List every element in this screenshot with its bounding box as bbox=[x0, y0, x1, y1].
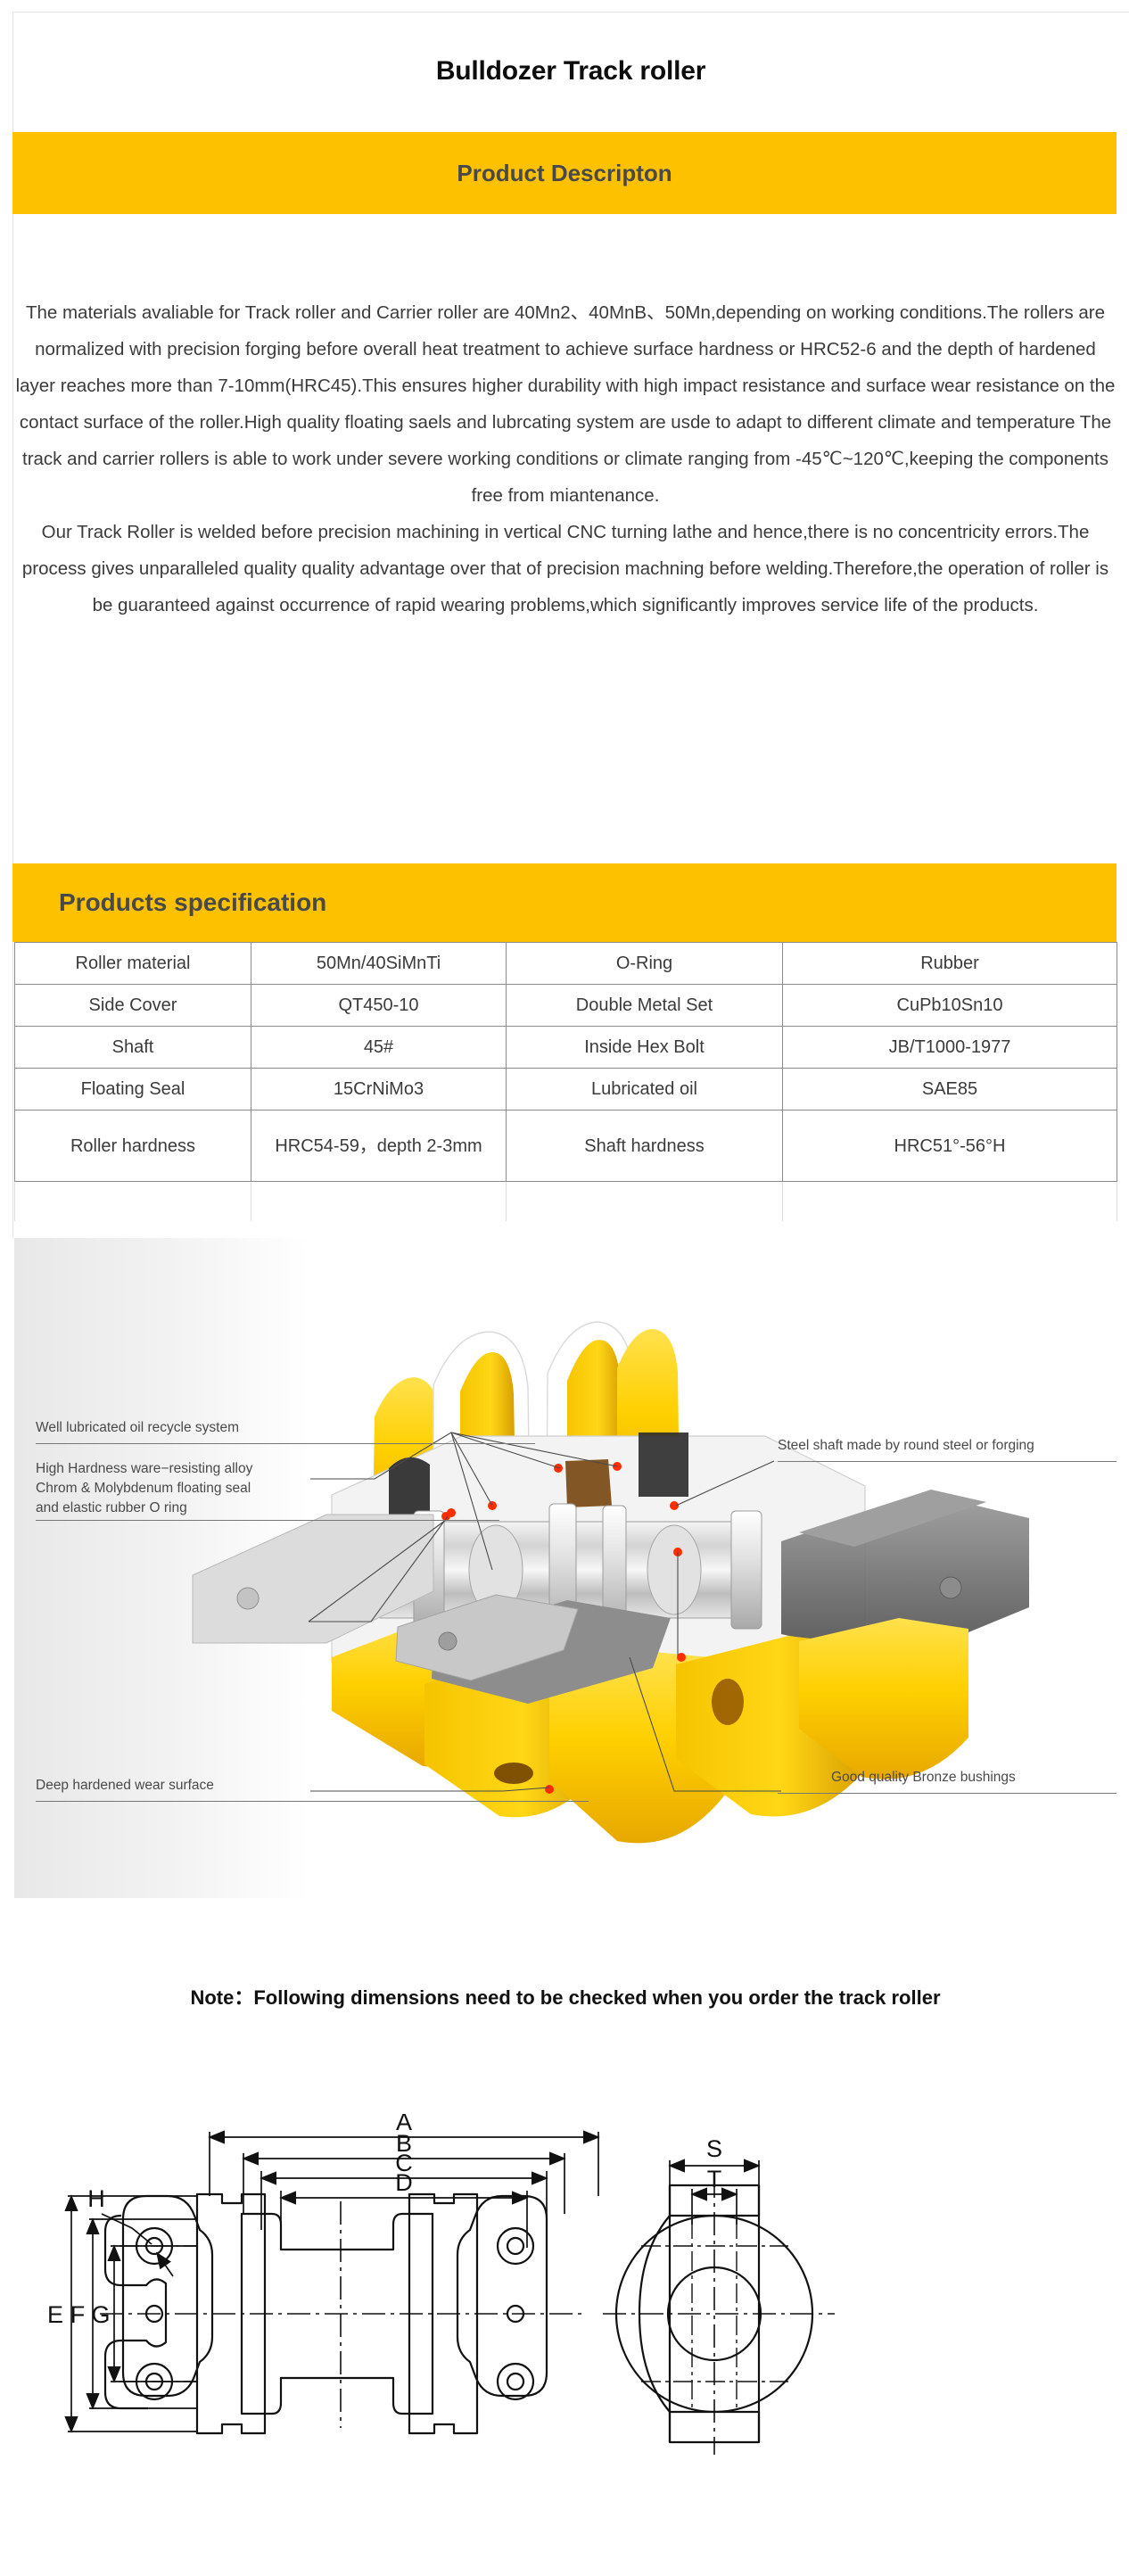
table-row: Side Cover QT450-10 Double Metal Set CuP… bbox=[15, 985, 1117, 1027]
spec-cell: Rubber bbox=[783, 943, 1117, 985]
specification-table: Roller material 50Mn/40SiMnTi O-Ring Rub… bbox=[14, 942, 1117, 1221]
side-bracket-profile bbox=[123, 2196, 212, 2396]
table-row: Floating Seal 15CrNiMo3 Lubricated oil S… bbox=[15, 1069, 1117, 1110]
bracket-bolt-hole-bottom-right bbox=[498, 2364, 533, 2399]
callout-bronze-bushings: Good quality Bronze bushings bbox=[831, 1768, 1016, 1788]
dimension-labels: A B C D E F G H S T bbox=[47, 2114, 722, 2328]
bronze-bushing-right bbox=[647, 1525, 701, 1614]
spec-cell: Floating Seal bbox=[15, 1069, 251, 1110]
description-paragraph-1: The materials avaliable for Track roller… bbox=[14, 294, 1117, 514]
roller-cavity-2 bbox=[565, 1459, 612, 1507]
spec-cell: Roller material bbox=[15, 943, 251, 985]
spec-cell: CuPb10Sn10 bbox=[783, 985, 1117, 1027]
product-description-banner: Product Descripton bbox=[12, 132, 1117, 214]
marker-dot bbox=[545, 1785, 554, 1794]
roller-cavity-1 bbox=[639, 1432, 688, 1497]
callout-rule-oil-recycle bbox=[36, 1443, 535, 1444]
spec-cell: HRC51°-56°H bbox=[783, 1110, 1117, 1182]
leader-arrow-hole bbox=[157, 2253, 173, 2276]
callout-rule-bronze-bushing bbox=[778, 1793, 1117, 1794]
bracket-bolt-hole-bottom-right-inner bbox=[507, 2374, 523, 2390]
dim-label-G: G bbox=[91, 2301, 110, 2328]
product-cutaway-illustration: Well lubricated oil recycle system High … bbox=[14, 1238, 1117, 1898]
callout-floating-seal-line2: Chrom & Molybdenum floating seal bbox=[36, 1479, 251, 1499]
callout-rule-steel-shaft bbox=[778, 1461, 1117, 1462]
spec-cell: Shaft hardness bbox=[507, 1110, 783, 1182]
callout-deep-hardened-wear-surface: Deep hardened wear surface bbox=[36, 1776, 214, 1796]
spec-cell: 45# bbox=[251, 1027, 507, 1069]
dim-label-H: H bbox=[87, 2185, 105, 2212]
cutaway-drawing bbox=[14, 1238, 1117, 1898]
description-paragraph-2: Our Track Roller is welded before precis… bbox=[14, 514, 1117, 623]
spec-cell: Shaft bbox=[15, 1027, 251, 1069]
dim-label-F: F bbox=[70, 2301, 86, 2328]
spec-cell: Lubricated oil bbox=[507, 1069, 783, 1110]
spec-cell: Side Cover bbox=[15, 985, 251, 1027]
callout-steel-shaft: Steel shaft made by round steel or forgi… bbox=[778, 1436, 1034, 1456]
spec-cell: HRC54-59，depth 2-3mm bbox=[251, 1110, 507, 1182]
products-specification-banner-label: Products specification bbox=[59, 888, 326, 917]
spec-cell-empty bbox=[15, 1182, 251, 1221]
marker-dot bbox=[670, 1501, 679, 1510]
table-row: Roller material 50Mn/40SiMnTi O-Ring Rub… bbox=[15, 943, 1117, 985]
spec-cell: Double Metal Set bbox=[507, 985, 783, 1027]
table-row: Roller hardness HRC54-59，depth 2-3mm Sha… bbox=[15, 1110, 1117, 1182]
spec-cell-empty bbox=[507, 1182, 783, 1221]
spec-cell: 15CrNiMo3 bbox=[251, 1069, 507, 1110]
product-description-banner-label: Product Descripton bbox=[457, 160, 672, 187]
dim-label-E: E bbox=[47, 2301, 63, 2328]
spec-cell: Roller hardness bbox=[15, 1110, 251, 1182]
flange-bolt-hole bbox=[439, 1632, 457, 1650]
dim-label-D: D bbox=[395, 2169, 413, 2196]
callout-floating-seal-line1: High Hardness ware−resisting alloy bbox=[36, 1459, 252, 1479]
spec-cell-empty bbox=[783, 1182, 1117, 1221]
product-page: Bulldozer Track roller Product Descripto… bbox=[0, 0, 1129, 2576]
spec-cell: O-Ring bbox=[507, 943, 783, 985]
bolt-hole-right bbox=[940, 1577, 961, 1598]
product-description-text: The materials avaliable for Track roller… bbox=[14, 294, 1117, 623]
dim-label-T: T bbox=[707, 2166, 722, 2192]
spec-cell: JB/T1000-1977 bbox=[783, 1027, 1117, 1069]
bracket-bolt-hole-top-right bbox=[498, 2228, 533, 2264]
bolt-hole-left bbox=[237, 1588, 259, 1609]
order-note: Note：Following dimensions need to be che… bbox=[14, 1982, 1117, 2010]
spec-cell: QT450-10 bbox=[251, 985, 507, 1027]
products-specification-banner: Products specification bbox=[12, 863, 1117, 942]
spec-cell: Inside Hex Bolt bbox=[507, 1027, 783, 1069]
marker-dot bbox=[554, 1464, 563, 1473]
callout-oil-recycle-system: Well lubricated oil recycle system bbox=[36, 1418, 239, 1438]
oil-pocket-right bbox=[712, 1679, 744, 1725]
dimension-drawing: A B C D E F G H S T bbox=[14, 2114, 1117, 2569]
spec-cell-empty bbox=[251, 1182, 507, 1221]
dim-label-S: S bbox=[706, 2135, 722, 2162]
oil-pocket-left bbox=[494, 1763, 533, 1784]
table-row: Shaft 45# Inside Hex Bolt JB/T1000-1977 bbox=[15, 1027, 1117, 1069]
table-row-empty bbox=[15, 1182, 1117, 1221]
page-title: Bulldozer Track roller bbox=[12, 12, 1129, 130]
bracket-bolt-hole-top-right-inner bbox=[507, 2238, 523, 2254]
spec-cell: 50Mn/40SiMnTi bbox=[251, 943, 507, 985]
callout-rule-wear-surface bbox=[36, 1801, 589, 1802]
callout-floating-seal-line3: and elastic rubber O ring bbox=[36, 1499, 187, 1518]
spec-cell: SAE85 bbox=[783, 1069, 1117, 1110]
dimension-drawing-svg: A B C D E F G H S T bbox=[14, 2114, 1117, 2569]
shaft-collar-right bbox=[731, 1511, 762, 1629]
callout-rule-floating-seal bbox=[36, 1520, 499, 1521]
side-bracket-profile-right bbox=[457, 2196, 547, 2396]
